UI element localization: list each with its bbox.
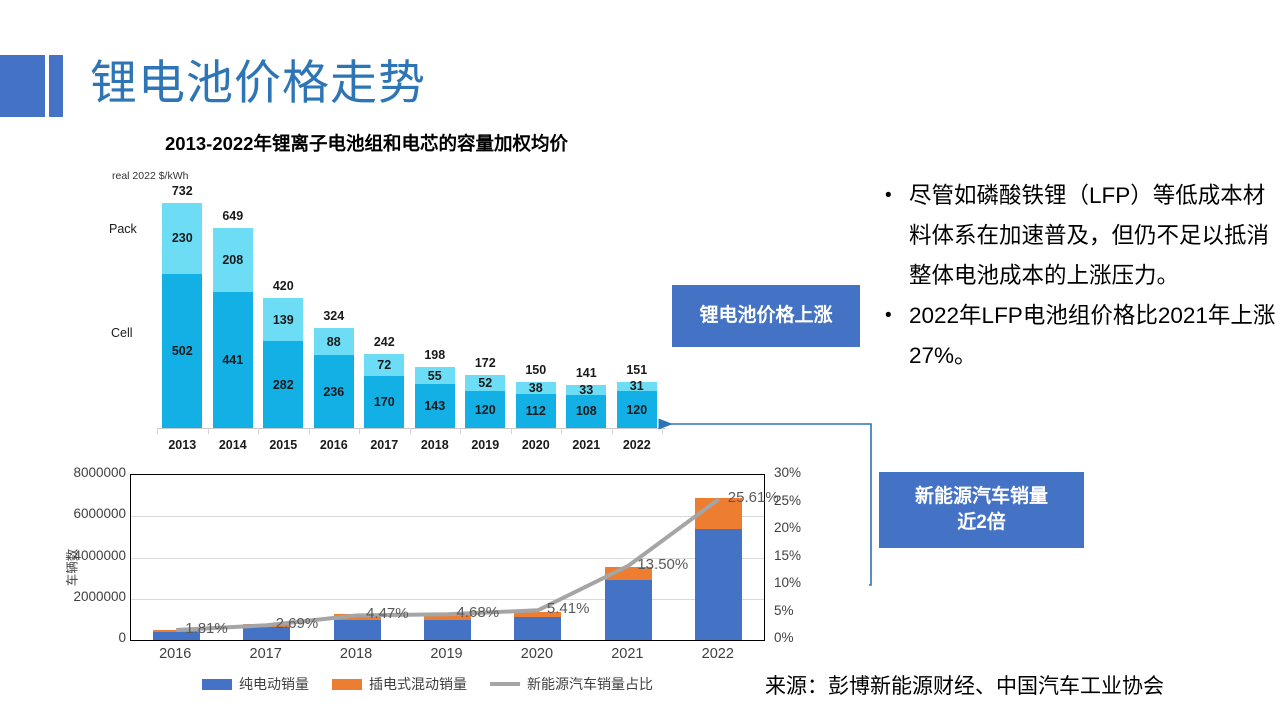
nev-pct-label-2021: 13.50%	[637, 556, 688, 573]
legend-swatch-icon	[202, 679, 232, 690]
callout-price-rise[interactable]: 锂电池价格上涨	[672, 285, 860, 347]
battery-segment-value-pack: 55	[415, 369, 455, 382]
battery-segment-value-cell: 120	[465, 403, 505, 416]
battery-bar-2022: 31120	[617, 382, 657, 428]
battery-price-chart: 2013-2022年锂离子电池组和电芯的容量加权均价 real 2022 $/k…	[105, 130, 670, 470]
legend-swatch-icon	[332, 679, 362, 690]
battery-bar-segment-cell: 170	[364, 376, 404, 428]
nev-legend-label: 纯电动销量	[239, 674, 309, 694]
battery-segment-value-cell: 170	[364, 396, 404, 409]
battery-bar-segment-pack: 230	[162, 203, 202, 274]
battery-x-tick-mark	[157, 428, 158, 434]
nev-y-tick-2000000: 2000000	[26, 589, 126, 604]
battery-row-label-cell: Cell	[111, 326, 133, 340]
nev-y2-tick-5%: 5%	[774, 603, 834, 618]
battery-segment-value-pack: 72	[364, 358, 404, 371]
battery-chart-title: 2013-2022年锂离子电池组和电芯的容量加权均价	[165, 130, 568, 156]
nev-y-tick-4000000: 4000000	[26, 548, 126, 563]
bullet-item-2-text: 2022年LFP电池组价格比2021年上涨27%。	[909, 296, 1277, 376]
nev-pct-label-2019: 4.68%	[457, 604, 500, 621]
battery-bar-segment-cell: 112	[516, 394, 556, 428]
nev-y-tick-8000000: 8000000	[26, 465, 126, 480]
battery-bar-2019: 52120	[465, 375, 505, 428]
nev-legend-label: 新能源汽车销量占比	[527, 674, 653, 694]
battery-segment-value-cell: 282	[263, 378, 303, 391]
nev-y2-tick-25%: 25%	[774, 493, 834, 508]
battery-bar-segment-pack: 88	[314, 328, 354, 355]
battery-chart-unit-label: real 2022 $/kWh	[112, 170, 188, 182]
battery-bar-total-2021: 141	[566, 366, 606, 380]
battery-bar-total-2013: 732	[162, 184, 202, 198]
nev-x-tick-2019: 2019	[402, 646, 492, 662]
battery-bar-total-2016: 324	[314, 309, 354, 323]
nev-pct-label-2017: 2.69%	[276, 615, 319, 632]
battery-bar-segment-pack: 33	[566, 385, 606, 395]
nev-x-tick-2018: 2018	[311, 646, 401, 662]
battery-bar-segment-cell: 441	[213, 292, 253, 428]
battery-chart-axis-line	[157, 428, 665, 429]
battery-segment-value-pack: 38	[516, 381, 556, 394]
battery-x-tick-mark	[208, 428, 209, 434]
battery-x-tick-mark	[561, 428, 562, 434]
battery-x-tick-mark	[612, 428, 613, 434]
battery-x-tick-2018: 2018	[415, 438, 455, 452]
nev-y2-tick-30%: 30%	[774, 465, 834, 480]
battery-segment-value-cell: 441	[213, 354, 253, 367]
battery-segment-value-cell: 120	[617, 403, 657, 416]
battery-bar-segment-pack: 139	[263, 298, 303, 341]
slide-canvas: 锂电池价格走势 2013-2022年锂离子电池组和电芯的容量加权均价 real …	[0, 0, 1280, 720]
battery-segment-value-cell: 112	[516, 405, 556, 418]
battery-bar-total-2014: 649	[213, 209, 253, 223]
callout-ev-sales-label: 新能源汽车销量 近2倍	[915, 484, 1048, 535]
battery-bar-total-2020: 150	[516, 363, 556, 377]
nev-chart-legend: 纯电动销量插电式混动销量新能源汽车销量占比	[202, 674, 667, 694]
nev-sales-chart: 车辆数 02000000400000060000008000000 0%5%10…	[62, 466, 852, 706]
callout-ev-sales[interactable]: 新能源汽车销量 近2倍	[879, 472, 1084, 548]
battery-x-tick-2015: 2015	[263, 438, 303, 452]
battery-bar-segment-cell: 282	[263, 341, 303, 428]
bullet-item-1-text: 尽管如磷酸铁锂（LFP）等低成本材料体系在加速普及，但仍不足以抵消整体电池成本的…	[909, 176, 1277, 296]
battery-x-tick-mark	[309, 428, 310, 434]
battery-segment-value-pack: 139	[263, 314, 303, 327]
nev-legend-label: 插电式混动销量	[369, 674, 467, 694]
battery-x-tick-2014: 2014	[213, 438, 253, 452]
nev-pct-label-2018: 4.47%	[366, 605, 409, 622]
battery-bar-segment-pack: 72	[364, 354, 404, 376]
battery-bar-2018: 55143	[415, 367, 455, 428]
bullet-item-1: • 尽管如磷酸铁锂（LFP）等低成本材料体系在加速普及，但仍不足以抵消整体电池成…	[885, 176, 1277, 296]
nev-x-tick-2017: 2017	[221, 646, 311, 662]
battery-segment-value-pack: 230	[162, 232, 202, 245]
battery-bar-2016: 88236	[314, 328, 354, 428]
battery-segment-value-pack: 88	[314, 336, 354, 349]
callout-ev-sales-line1: 新能源汽车销量	[915, 486, 1048, 507]
nev-pct-label-2022: 25.61%	[728, 489, 779, 506]
source-note: 来源：彭博新能源财经、中国汽车工业协会	[765, 670, 1164, 700]
battery-x-tick-mark	[460, 428, 461, 434]
bullet-item-2: • 2022年LFP电池组价格比2021年上涨27%。	[885, 296, 1277, 376]
battery-bar-2013: 230502	[162, 203, 202, 428]
battery-bar-total-2018: 198	[415, 348, 455, 362]
bullet-list: • 尽管如磷酸铁锂（LFP）等低成本材料体系在加速普及，但仍不足以抵消整体电池成…	[885, 176, 1277, 376]
nev-legend-item-2[interactable]: 新能源汽车销量占比	[490, 674, 653, 694]
title-accent-bar-thin	[49, 55, 63, 117]
nev-legend-item-0[interactable]: 纯电动销量	[202, 674, 309, 694]
callout-ev-sales-line2: 近2倍	[957, 512, 1006, 533]
battery-x-tick-2016: 2016	[314, 438, 354, 452]
battery-bar-total-2022: 151	[617, 363, 657, 377]
bullet-marker-icon: •	[885, 296, 909, 336]
battery-x-tick-2013: 2013	[162, 438, 202, 452]
battery-bar-2020: 38112	[516, 382, 556, 428]
battery-x-tick-2019: 2019	[465, 438, 505, 452]
nev-legend-item-1[interactable]: 插电式混动销量	[332, 674, 467, 694]
nev-y2-tick-15%: 15%	[774, 548, 834, 563]
battery-bar-segment-pack: 38	[516, 382, 556, 394]
battery-bar-segment-pack: 55	[415, 367, 455, 384]
battery-x-tick-2017: 2017	[364, 438, 404, 452]
battery-segment-value-cell: 502	[162, 345, 202, 358]
bullet-marker-icon: •	[885, 176, 909, 216]
nev-pct-label-2020: 5.41%	[547, 600, 590, 617]
nev-y-tick-6000000: 6000000	[26, 506, 126, 521]
battery-x-tick-2020: 2020	[516, 438, 556, 452]
title-accent-bar-wide	[0, 55, 45, 117]
battery-row-label-pack: Pack	[109, 222, 137, 236]
legend-swatch-icon	[490, 682, 520, 686]
battery-bar-segment-pack: 31	[617, 382, 657, 392]
battery-bar-2017: 72170	[364, 354, 404, 428]
battery-x-tick-mark	[662, 428, 663, 434]
battery-segment-value-cell: 143	[415, 400, 455, 413]
battery-bar-2015: 139282	[263, 298, 303, 428]
battery-bar-segment-pack: 52	[465, 375, 505, 391]
nev-x-tick-2020: 2020	[492, 646, 582, 662]
battery-bar-segment-cell: 108	[566, 395, 606, 428]
battery-segment-value-pack: 52	[465, 377, 505, 390]
battery-bar-segment-cell: 120	[465, 391, 505, 428]
battery-bar-total-2017: 242	[364, 335, 404, 349]
nev-y-tick-0: 0	[26, 630, 126, 645]
battery-segment-value-pack: 208	[213, 254, 253, 267]
nev-y2-tick-20%: 20%	[774, 520, 834, 535]
nev-y2-tick-10%: 10%	[774, 575, 834, 590]
nev-y2-tick-0%: 0%	[774, 630, 834, 645]
page-title: 锂电池价格走势	[90, 52, 426, 114]
battery-bar-total-2015: 420	[263, 279, 303, 293]
battery-bar-total-2019: 172	[465, 356, 505, 370]
battery-bar-segment-cell: 120	[617, 391, 657, 428]
battery-x-tick-mark	[511, 428, 512, 434]
battery-x-tick-mark	[410, 428, 411, 434]
battery-x-tick-2021: 2021	[566, 438, 606, 452]
battery-segment-value-cell: 108	[566, 405, 606, 418]
battery-x-tick-mark	[359, 428, 360, 434]
battery-bar-segment-cell: 143	[415, 384, 455, 428]
nev-x-tick-2022: 2022	[673, 646, 763, 662]
nev-x-tick-2016: 2016	[130, 646, 220, 662]
battery-bar-2014: 208441	[213, 228, 253, 428]
battery-segment-value-cell: 236	[314, 385, 354, 398]
battery-x-tick-mark	[258, 428, 259, 434]
battery-bar-segment-pack: 208	[213, 228, 253, 292]
callout-price-rise-label: 锂电池价格上涨	[699, 303, 832, 329]
battery-bar-segment-cell: 502	[162, 274, 202, 428]
battery-chart-plot-area: 2305022084411392828823672170551435212038…	[157, 188, 662, 428]
battery-x-tick-2022: 2022	[617, 438, 657, 452]
nev-x-tick-2021: 2021	[582, 646, 672, 662]
battery-bar-segment-cell: 236	[314, 355, 354, 428]
nev-pct-label-2016: 1.81%	[185, 620, 228, 637]
battery-bar-2021: 33108	[566, 385, 606, 428]
